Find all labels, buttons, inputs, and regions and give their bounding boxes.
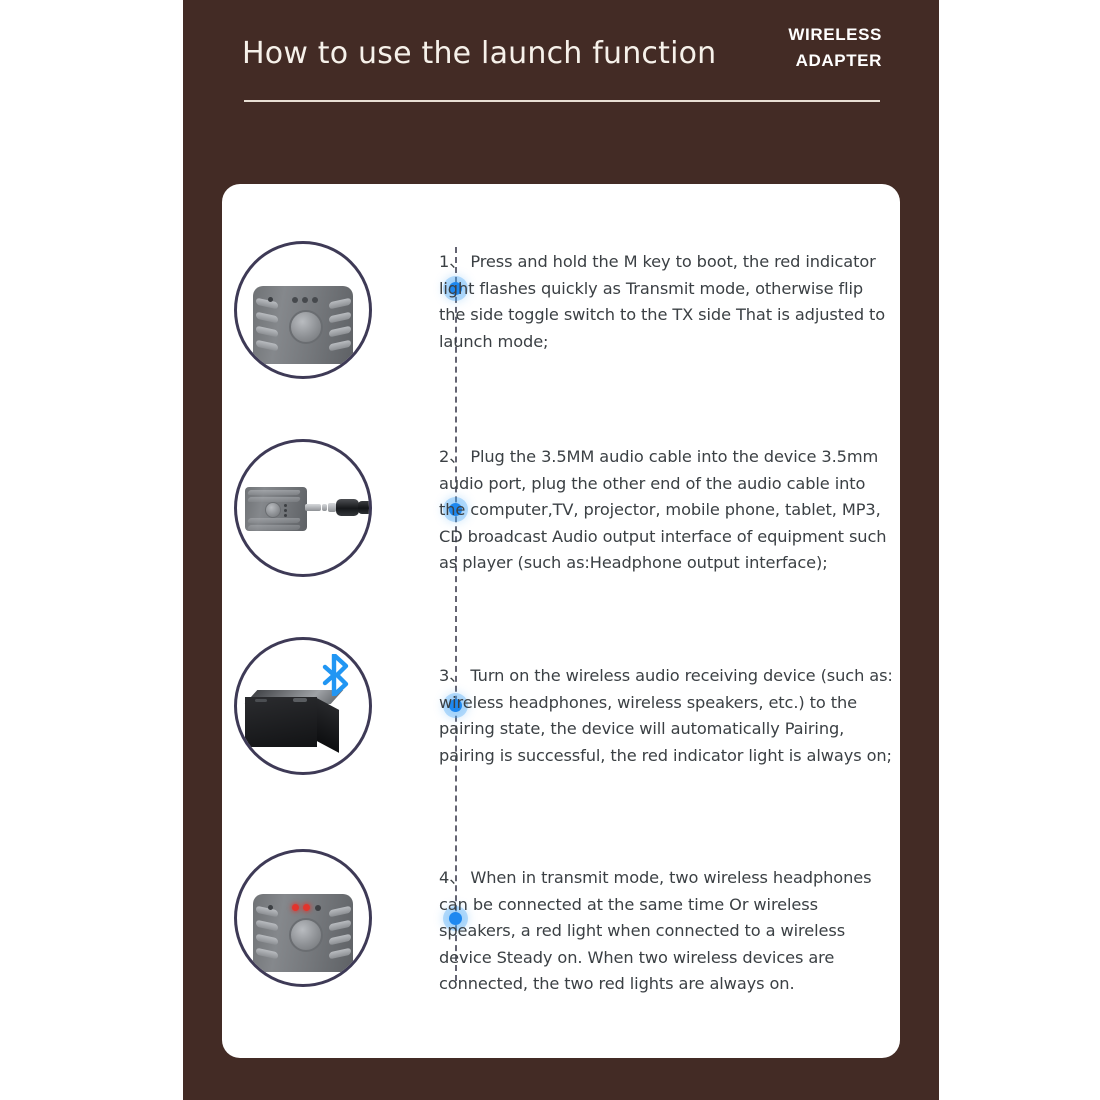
step-2-illustration <box>234 439 372 577</box>
badge-line-wireless: WIRELESS <box>682 22 882 48</box>
step-3-illustration <box>234 637 372 775</box>
header: How to use the launch function WIRELESS … <box>183 0 939 120</box>
header-divider <box>244 100 880 102</box>
step-item-2: 2、 Plug the 3.5MM audio cable into the d… <box>222 439 900 589</box>
page-title: How to use the launch function <box>242 36 716 71</box>
step-4-illustration <box>234 849 372 987</box>
step-1-illustration <box>234 241 372 379</box>
step-item-1: 1、 Press and hold the M key to boot, the… <box>222 241 900 391</box>
step-item-3: 3、 Turn on the wireless audio receiving … <box>222 637 900 787</box>
instructions-card: 1、 Press and hold the M key to boot, the… <box>222 184 900 1058</box>
page-root: How to use the launch function WIRELESS … <box>0 0 1100 1100</box>
brown-panel: How to use the launch function WIRELESS … <box>183 0 939 1100</box>
step-1-text: 1、 Press and hold the M key to boot, the… <box>439 249 894 355</box>
step-2-text: 2、 Plug the 3.5MM audio cable into the d… <box>439 444 894 577</box>
step-3-text: 3、 Turn on the wireless audio receiving … <box>439 663 894 769</box>
badge-line-adapter: ADAPTER <box>682 48 882 74</box>
product-badge: WIRELESS ADAPTER <box>682 22 882 74</box>
step-item-4: 4、 When in transmit mode, two wireless h… <box>222 849 900 999</box>
bluetooth-icon <box>320 654 354 696</box>
step-4-text: 4、 When in transmit mode, two wireless h… <box>439 865 894 998</box>
